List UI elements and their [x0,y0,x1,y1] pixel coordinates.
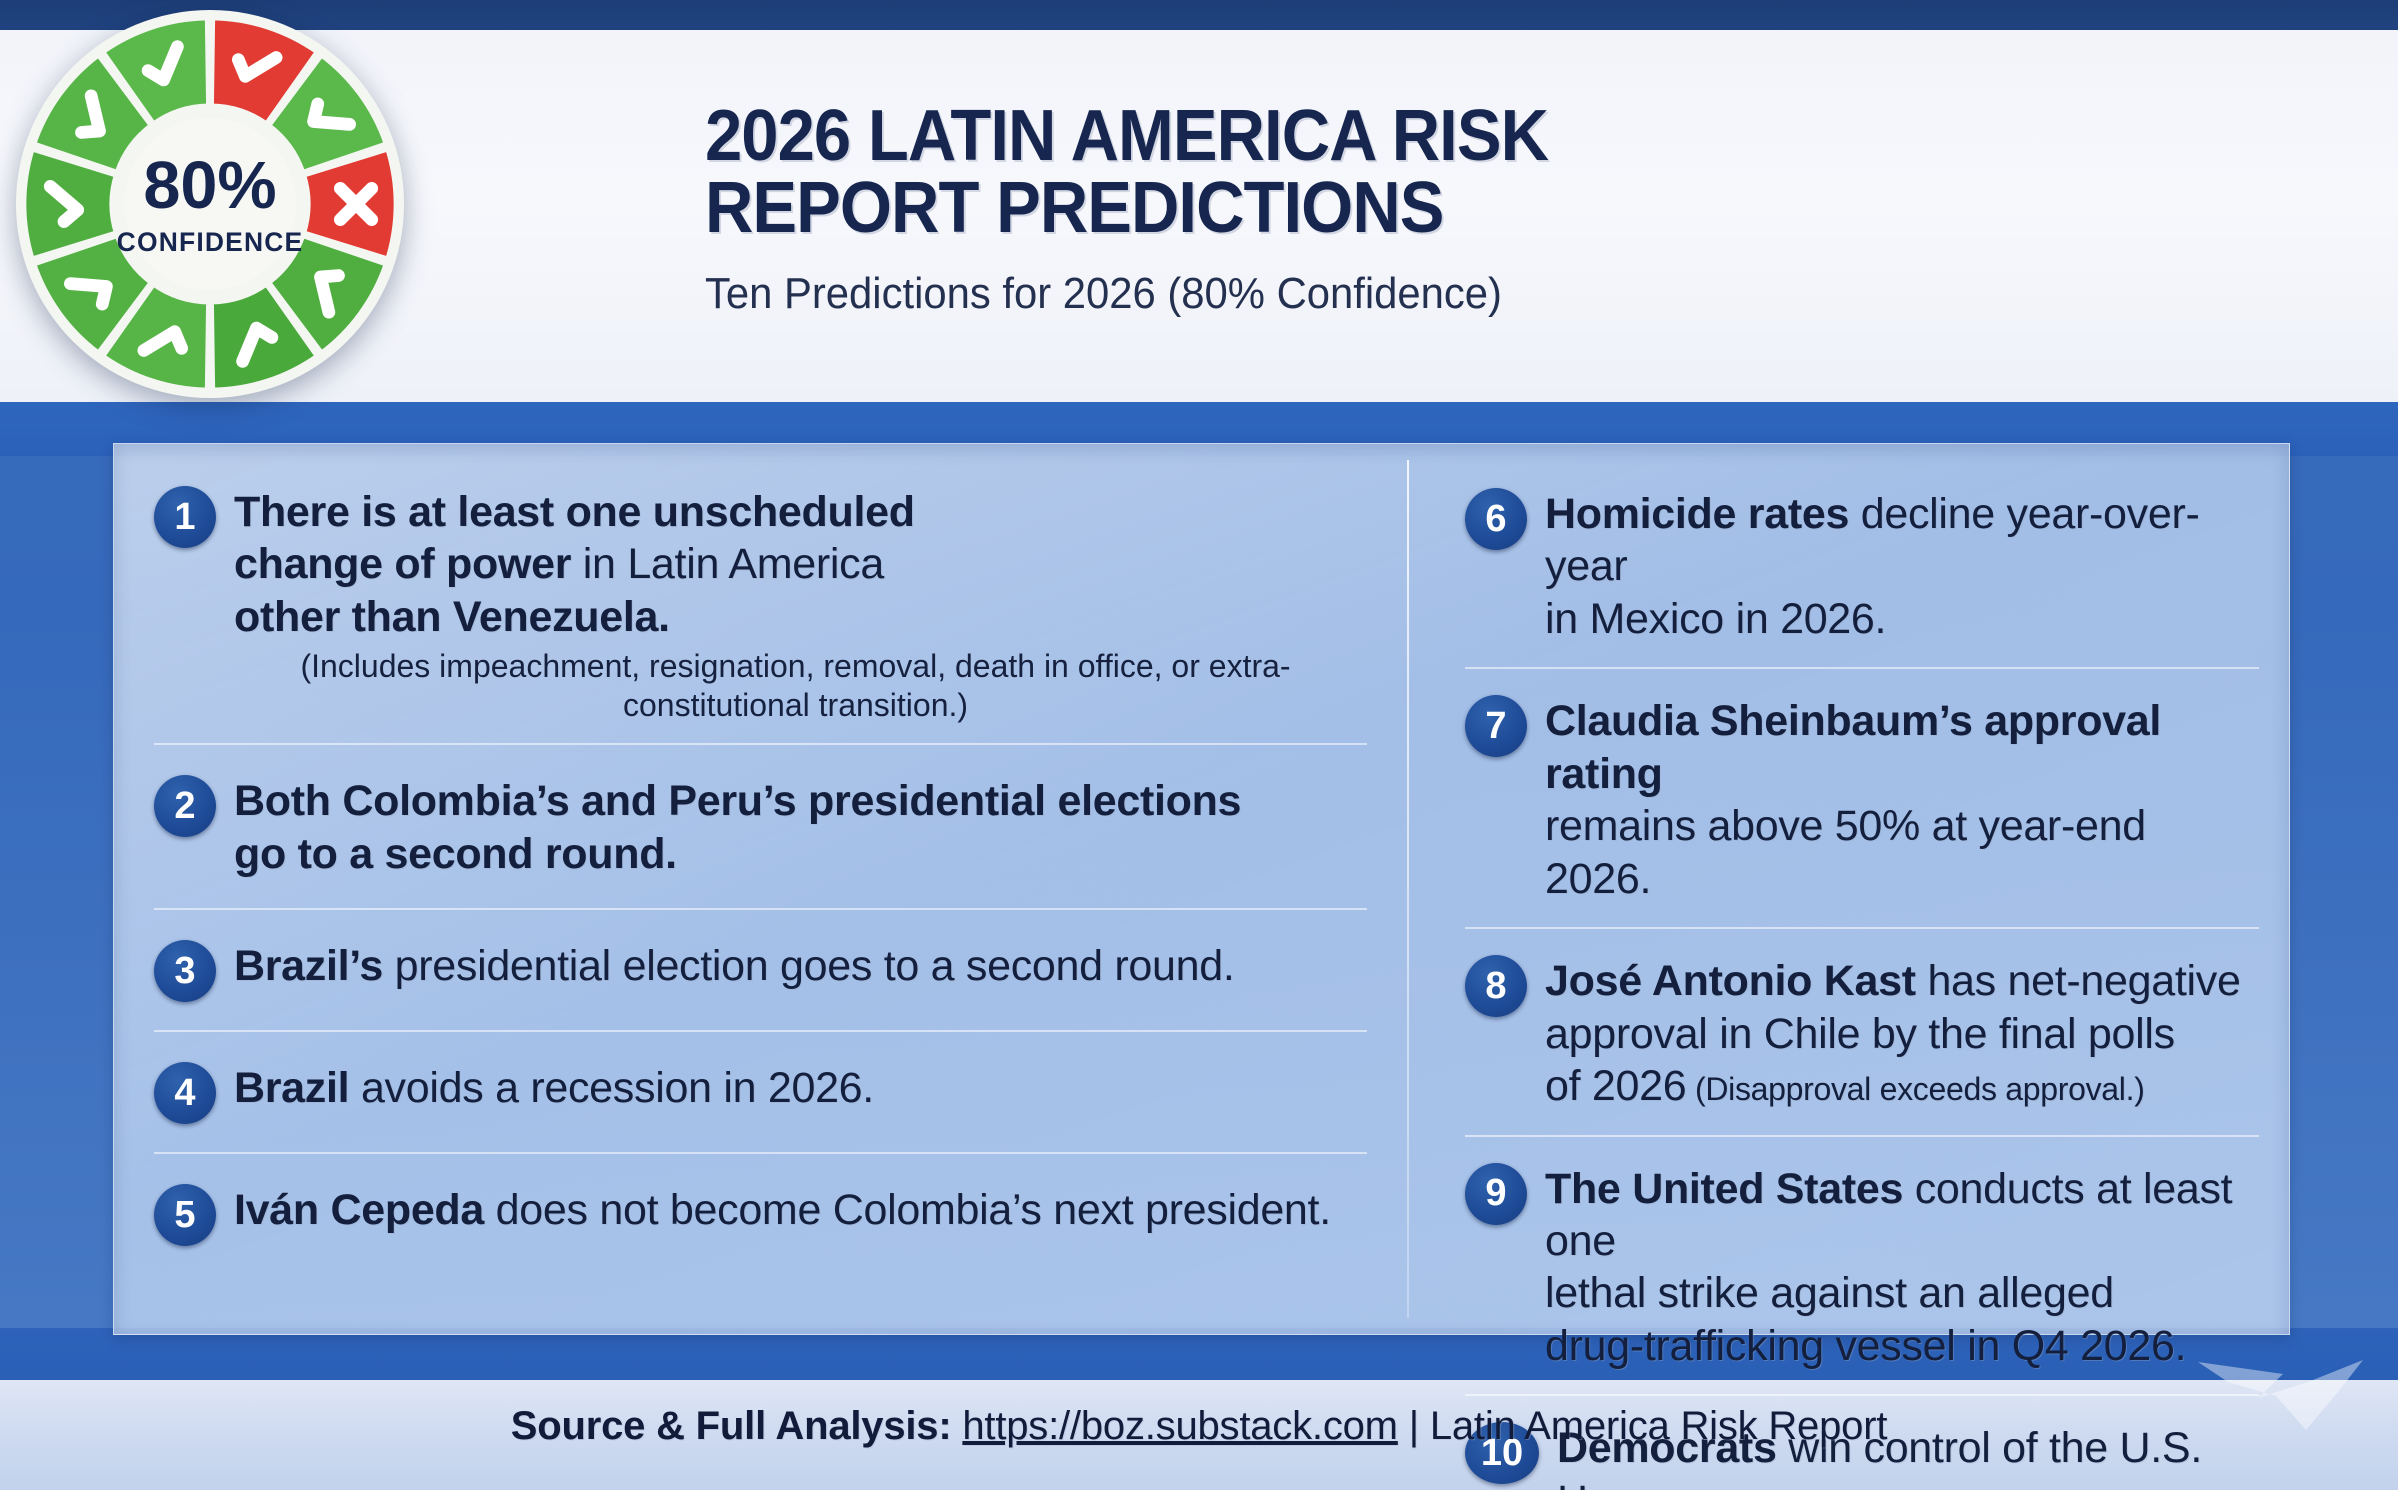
prediction-span: drug-trafficking vessel in Q4 2026. [1545,1322,2186,1370]
prediction-line: Homicide rates decline year-over-year [1545,488,2259,593]
prediction-span: avoids a recession in 2026. [349,1064,874,1112]
predictions-column-right: 6Homicide rates decline year-over-yearin… [1407,444,2289,1334]
prediction-line: go to a second round. [234,828,1367,880]
prediction-item-9: 9The United States conducts at least one… [1465,1135,2259,1395]
confidence-label: CONFIDENCE [117,227,304,257]
prediction-line: Brazil avoids a recession in 2026. [234,1062,1367,1114]
prediction-item-7: 7Claudia Sheinbaum’s approval ratingrema… [1465,667,2259,927]
prediction-item-5: 5Iván Cepeda does not become Colombia’s … [154,1152,1367,1280]
prediction-line: There is at least one unscheduled [234,486,1367,538]
prediction-number-badge: 5 [154,1184,216,1246]
prediction-text: Claudia Sheinbaum’s approval ratingremai… [1545,695,2259,905]
page-subtitle: Ten Predictions for 2026 (80% Confidence… [705,270,2225,318]
column-divider [1407,460,1409,1318]
prediction-span: lethal strike against an alleged [1545,1269,2114,1317]
prediction-item-3: 3Brazil’s presidential election goes to … [154,908,1367,1030]
prediction-item-2: 2Both Colombia’s and Peru’s presidential… [154,743,1367,908]
prediction-line: of 2026 (Disapproval exceeds approval.) [1545,1060,2259,1112]
prediction-line: lethal strike against an alleged [1545,1267,2259,1319]
prediction-line: change of power in Latin America [234,538,1367,590]
footer-separator: | [1398,1404,1430,1448]
prediction-text: Iván Cepeda does not become Colombia’s n… [234,1184,1367,1236]
prediction-line: Brazil’s presidential election goes to a… [234,940,1367,992]
confidence-percent: 80% [143,149,276,223]
prediction-note: (Includes impeachment, resignation, remo… [234,647,1367,725]
prediction-emphasis: There is at least one unscheduled [234,488,915,536]
prediction-text: Brazil’s presidential election goes to a… [234,940,1367,992]
prediction-emphasis: Claudia Sheinbaum’s approval rating [1545,697,2161,797]
prediction-emphasis: go to a second round. [234,830,677,878]
source-link[interactable]: https://boz.substack.com [962,1404,1397,1448]
footer: Source & Full Analysis: https://boz.subs… [0,1404,2398,1449]
prediction-span: in Mexico in 2026. [1545,595,1886,643]
prediction-emphasis: Homicide rates [1545,490,1849,538]
footer-publication: Latin America Risk Report [1430,1404,1887,1448]
prediction-number-badge: 9 [1465,1163,1527,1225]
prediction-item-1: 1There is at least one unscheduledchange… [154,462,1367,743]
prediction-line: other than Venezuela. [234,591,1367,643]
prediction-span: remains above 50% at year-end 2026. [1545,802,2146,902]
prediction-number-badge: 8 [1465,955,1527,1017]
prediction-emphasis: other than Venezuela. [234,593,670,641]
prediction-line: approval in Chile by the final polls [1545,1008,2259,1060]
prediction-emphasis: Both Colombia’s and Peru’s presidential … [234,777,1241,825]
prediction-line: José Antonio Kast has net-negative [1545,955,2259,1007]
prediction-line: in Mexico in 2026. [1545,593,2259,645]
confidence-badge: 80%CONFIDENCE [14,8,406,400]
prediction-number-badge: 3 [154,940,216,1002]
prediction-line: Claudia Sheinbaum’s approval rating [1545,695,2259,800]
prediction-span: (Disapproval exceeds approval.) [1686,1071,2144,1107]
prediction-span: of 2026 [1545,1062,1686,1110]
prediction-number-badge: 4 [154,1062,216,1124]
prediction-item-8: 8José Antonio Kast has net-negativeappro… [1465,927,2259,1134]
prediction-line: drug-trafficking vessel in Q4 2026. [1545,1320,2259,1372]
prediction-emphasis: change of power [234,540,571,588]
prediction-text: José Antonio Kast has net-negativeapprov… [1545,955,2259,1112]
prediction-span: does not become Colombia’s next presiden… [484,1186,1331,1234]
prediction-emphasis: Brazil [234,1064,349,1112]
prediction-line: The United States conducts at least one [1545,1163,2259,1268]
predictions-panel: 1There is at least one unscheduledchange… [113,443,2290,1335]
prediction-span: presidential election goes to a second r… [383,942,1235,990]
prediction-number-badge: 7 [1465,695,1527,757]
prediction-span: in Latin America [571,540,884,588]
prediction-emphasis: José Antonio Kast [1545,957,1916,1005]
header: 2026 LATIN AMERICA RISK REPORT PREDICTIO… [705,100,2305,318]
prediction-line: Iván Cepeda does not become Colombia’s n… [234,1184,1367,1236]
prediction-line: remains above 50% at year-end 2026. [1545,800,2259,905]
page-title: 2026 LATIN AMERICA RISK REPORT PREDICTIO… [705,100,2193,244]
prediction-span: approval in Chile by the final polls [1545,1010,2175,1058]
prediction-emphasis: Brazil’s [234,942,383,990]
prediction-number-badge: 2 [154,775,216,837]
footer-label: Source & Full Analysis: [511,1404,952,1448]
prediction-number-badge: 1 [154,486,216,548]
prediction-text: Both Colombia’s and Peru’s presidential … [234,775,1367,880]
prediction-text: Brazil avoids a recession in 2026. [234,1062,1367,1114]
predictions-column-left: 1There is at least one unscheduledchange… [114,444,1407,1334]
prediction-line: Both Colombia’s and Peru’s presidential … [234,775,1367,827]
prediction-number-badge: 6 [1465,488,1527,550]
prediction-emphasis: Iván Cepeda [234,1186,484,1234]
prediction-text: Homicide rates decline year-over-yearin … [1545,488,2259,645]
infographic-root: 2026 LATIN AMERICA RISK REPORT PREDICTIO… [0,0,2398,1490]
prediction-text: There is at least one unscheduledchange … [234,486,1367,725]
prediction-item-6: 6Homicide rates decline year-over-yearin… [1465,462,2259,667]
prediction-item-4: 4Brazil avoids a recession in 2026. [154,1030,1367,1152]
prediction-emphasis: The United States [1545,1165,1903,1213]
prediction-span: has net-negative [1916,957,2241,1005]
prediction-text: The United States conducts at least onel… [1545,1163,2259,1373]
